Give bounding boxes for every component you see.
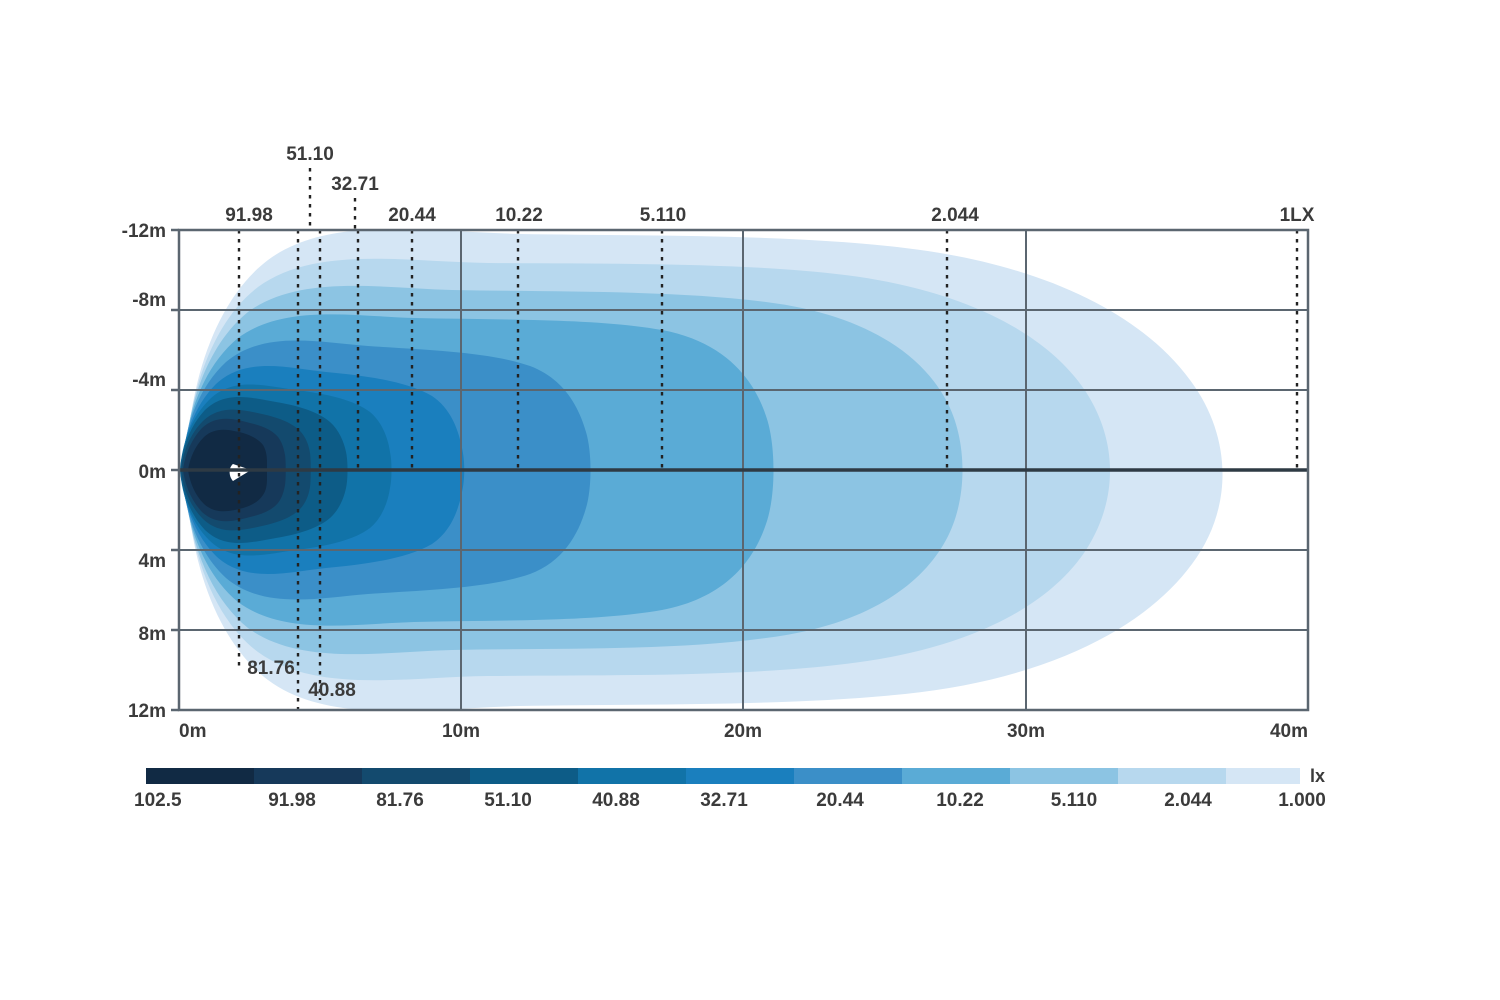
- isolux-label-51.10: 51.10: [286, 144, 334, 165]
- beam-pattern-chart: -12m -8m -4m 0m 4m 8m 12m 0m 10m 20m 30m…: [0, 0, 1500, 1000]
- isolux-label-20.44: 20.44: [388, 205, 436, 226]
- y-tick-label: 12m: [128, 701, 166, 722]
- x-tick-label: 0m: [179, 721, 206, 742]
- isolux-label-32.71: 32.71: [331, 174, 379, 195]
- y-axis: -12m -8m -4m 0m 4m 8m 12m: [122, 221, 179, 722]
- x-tick-label: 10m: [442, 721, 480, 742]
- y-tick-label: -4m: [132, 370, 166, 391]
- colorbar-swatch-20.44[interactable]: [794, 768, 902, 784]
- colorbar-tick-label: 102.5: [134, 790, 182, 811]
- colorbar-unit-label: lx: [1310, 766, 1325, 786]
- isolux-label-81.76: 81.76: [247, 658, 295, 679]
- colorbar-swatch-81.76[interactable]: [362, 768, 470, 784]
- y-tick-label: 8m: [139, 624, 166, 645]
- colorbar-tick-label: 5.110: [1051, 790, 1098, 811]
- isolux-label-40.88: 40.88: [308, 680, 356, 701]
- colorbar-swatch-10.22[interactable]: [902, 768, 1010, 784]
- y-tick-label: 0m: [139, 462, 166, 483]
- isolux-label-5.110: 5.110: [640, 205, 687, 226]
- photometric-isolux-plot: -12m -8m -4m 0m 4m 8m 12m 0m 10m 20m 30m…: [0, 0, 1500, 1000]
- isolux-label-2.044: 2.044: [931, 205, 979, 226]
- colorbar-tick-label: 32.71: [700, 790, 748, 811]
- colorbar-tick-label: 10.22: [936, 790, 984, 811]
- isolux-label-1lx: 1LX: [1280, 205, 1315, 226]
- x-tick-label: 30m: [1007, 721, 1045, 742]
- colorbar-swatch-102.5[interactable]: [146, 768, 254, 784]
- colorbar-tick-label: 51.10: [484, 790, 532, 811]
- colorbar-tick-label: 40.88: [592, 790, 640, 811]
- x-tick-label: 20m: [724, 721, 762, 742]
- colorbar-tick-label: 1.000: [1278, 790, 1326, 811]
- colorbar-tick-label: 2.044: [1164, 790, 1212, 811]
- y-tick-label: 4m: [139, 551, 166, 572]
- colorbar-tick-label: 20.44: [816, 790, 864, 811]
- colorbar-tick-label: 81.76: [376, 790, 424, 811]
- colorbar-swatch-2.044[interactable]: [1118, 768, 1226, 784]
- colorbar-swatch-91.98[interactable]: [254, 768, 362, 784]
- isolux-contours: [179, 229, 1308, 711]
- colorbar-tick-label: 91.98: [268, 790, 316, 811]
- colorbar-swatch-40.88[interactable]: [578, 768, 686, 784]
- y-tick-label: -12m: [122, 221, 166, 242]
- x-tick-label: 40m: [1270, 721, 1308, 742]
- y-tick-label: -8m: [132, 290, 166, 311]
- isolux-labels-top: 91.98 51.10 32.71 20.44 10.22 5.110 2.04…: [225, 144, 1315, 230]
- colorbar-swatch-1.000[interactable]: [1226, 768, 1300, 784]
- isolux-label-91.98: 91.98: [225, 205, 273, 226]
- colorbar-swatch-5.110[interactable]: [1010, 768, 1118, 784]
- colorbar-swatch-32.71[interactable]: [686, 768, 794, 784]
- colorbar[interactable]: lx 102.5 91.98 81.76 51.10 40.88 32.71 2…: [134, 766, 1326, 811]
- isolux-label-10.22: 10.22: [495, 205, 543, 226]
- x-axis: 0m 10m 20m 30m 40m: [179, 721, 1308, 742]
- colorbar-swatch-51.10[interactable]: [470, 768, 578, 784]
